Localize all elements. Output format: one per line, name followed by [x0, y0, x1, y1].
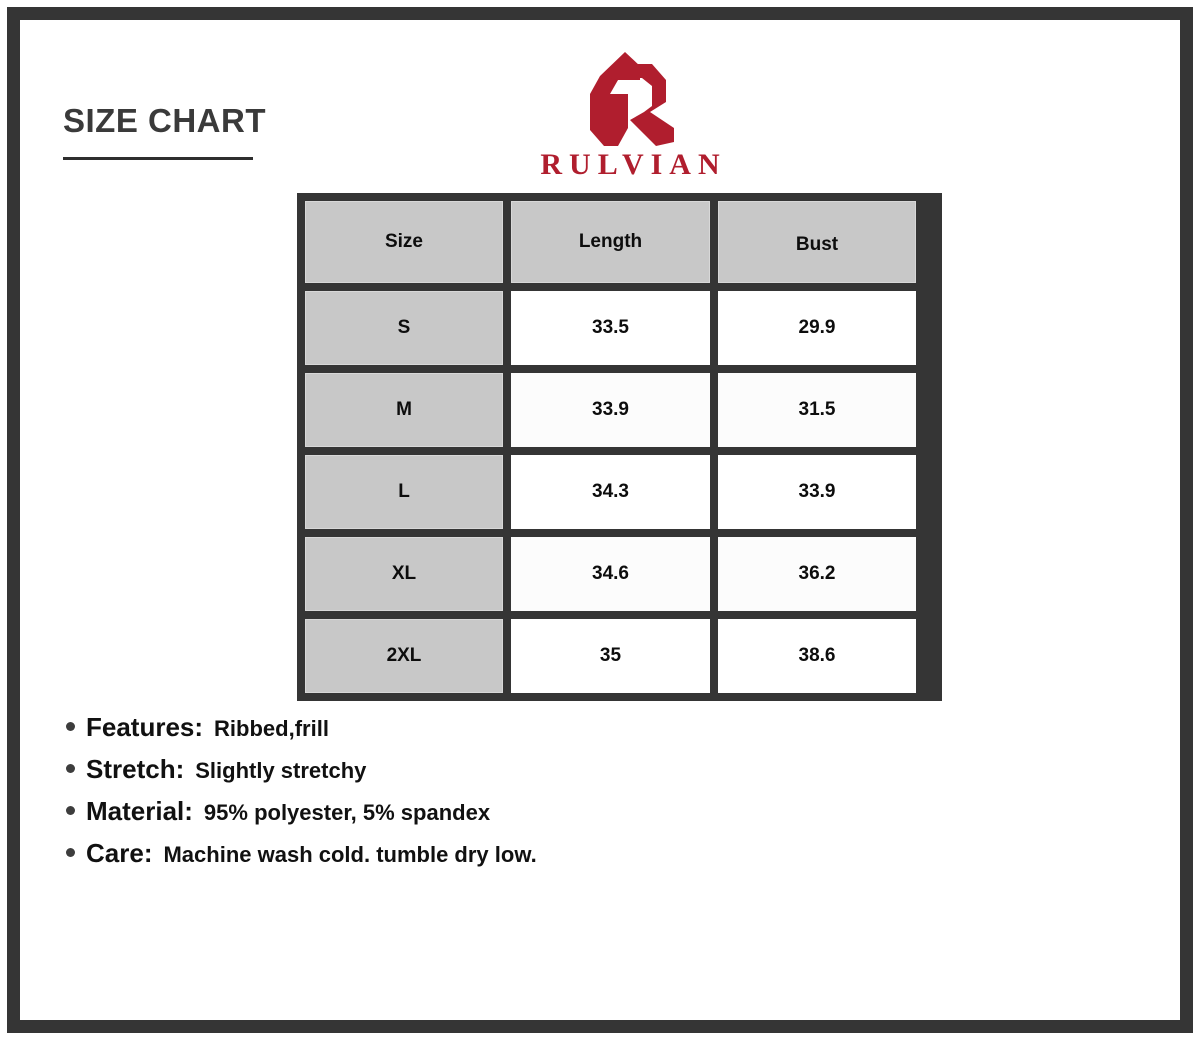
brand-logo: RULVIAN	[520, 50, 740, 180]
title-underline	[63, 157, 253, 160]
size-chart-page: SIZE CHART RULVIAN	[0, 0, 1200, 1040]
cell-length: 34.6	[511, 537, 710, 611]
bullet-icon	[66, 806, 75, 815]
list-item: Material: 95% polyester, 5% spandex	[66, 796, 926, 827]
table-row: M 33.9 31.5	[301, 369, 938, 451]
spec-value: 95% polyester, 5% spandex	[204, 800, 490, 826]
bullet-icon	[66, 848, 75, 857]
brand-wordmark: RULVIAN	[520, 150, 740, 180]
outer-frame: SIZE CHART RULVIAN	[7, 7, 1193, 1033]
cell-size: S	[305, 291, 503, 365]
cell-bust: 31.5	[718, 373, 916, 447]
spec-label: Care:	[86, 838, 152, 869]
cell-size: L	[305, 455, 503, 529]
inner-frame: SIZE CHART RULVIAN	[20, 20, 1180, 1020]
cell-size: M	[305, 373, 503, 447]
spec-list: Features: Ribbed,frill Stretch: Slightly…	[66, 712, 926, 880]
table-row: L 34.3 33.9	[301, 451, 938, 533]
list-item: Stretch: Slightly stretchy	[66, 754, 926, 785]
cell-bust: 29.9	[718, 291, 916, 365]
spec-label: Material:	[86, 796, 193, 827]
table-row: 2XL 35 38.6	[301, 615, 938, 697]
size-table: Size Length Bust S 33.5 29.9 M 33.9 31.5…	[297, 193, 942, 701]
header-cell-length: Length	[511, 201, 710, 283]
header-cell-size: Size	[305, 201, 503, 283]
spec-value: Slightly stretchy	[195, 758, 366, 784]
cell-size: XL	[305, 537, 503, 611]
cell-size: 2XL	[305, 619, 503, 693]
cell-length: 33.5	[511, 291, 710, 365]
cell-length: 34.3	[511, 455, 710, 529]
table-row: S 33.5 29.9	[301, 287, 938, 369]
spec-value: Ribbed,frill	[214, 716, 329, 742]
cell-length: 33.9	[511, 373, 710, 447]
spec-label: Features:	[86, 712, 203, 743]
spec-label: Stretch:	[86, 754, 184, 785]
cell-length: 35	[511, 619, 710, 693]
header-cell-bust: Bust	[718, 201, 916, 283]
bullet-icon	[66, 764, 75, 773]
table-header-row: Size Length Bust	[301, 197, 938, 287]
cell-bust: 33.9	[718, 455, 916, 529]
bullet-icon	[66, 722, 75, 731]
cell-bust: 38.6	[718, 619, 916, 693]
rulvian-r-monogram-icon	[570, 50, 690, 148]
table-row: XL 34.6 36.2	[301, 533, 938, 615]
list-item: Features: Ribbed,frill	[66, 712, 926, 743]
spec-value: Machine wash cold. tumble dry low.	[163, 842, 536, 868]
page-title: SIZE CHART	[63, 104, 363, 137]
title-block: SIZE CHART	[63, 104, 363, 160]
list-item: Care: Machine wash cold. tumble dry low.	[66, 838, 926, 869]
cell-bust: 36.2	[718, 537, 916, 611]
